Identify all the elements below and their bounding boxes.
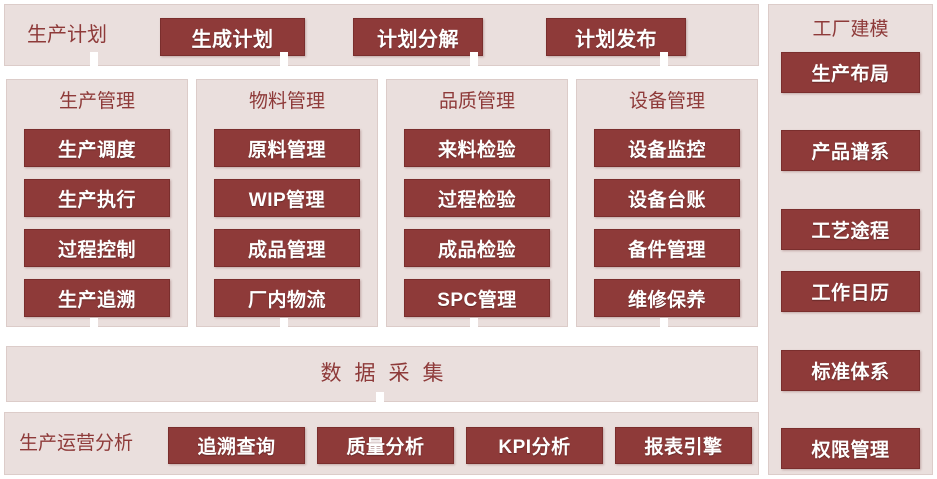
tile-spc-management[interactable]: SPC管理 — [404, 279, 550, 317]
material-management-panel: 物料管理 原料管理 WIP管理 成品管理 厂内物流 — [196, 79, 378, 327]
tile-in-plant-logistics[interactable]: 厂内物流 — [214, 279, 360, 317]
data-collection-panel: 数据采集 — [6, 346, 758, 402]
tile-raw-material-management[interactable]: 原料管理 — [214, 129, 360, 167]
equipment-management-label: 设备管理 — [577, 91, 757, 113]
quality-management-panel: 品质管理 来料检验 过程检验 成品检验 SPC管理 — [386, 79, 568, 327]
tile-wip-management[interactable]: WIP管理 — [214, 179, 360, 217]
tile-kpi-analysis[interactable]: KPI分析 — [466, 427, 603, 464]
tile-process-routing[interactable]: 工艺途程 — [781, 209, 920, 250]
tile-production-execution[interactable]: 生产执行 — [24, 179, 170, 217]
tile-report-engine[interactable]: 报表引擎 — [615, 427, 752, 464]
tile-maintenance[interactable]: 维修保养 — [594, 279, 740, 317]
tile-trace-query[interactable]: 追溯查询 — [168, 427, 305, 464]
quality-management-label: 品质管理 — [387, 91, 567, 113]
tile-production-scheduling[interactable]: 生产调度 — [24, 129, 170, 167]
tile-quality-analysis[interactable]: 质量分析 — [317, 427, 454, 464]
tile-incoming-inspection[interactable]: 来料检验 — [404, 129, 550, 167]
tile-product-genealogy[interactable]: 产品谱系 — [781, 130, 920, 171]
tile-equipment-monitoring[interactable]: 设备监控 — [594, 129, 740, 167]
data-collection-label: 数据采集 — [7, 361, 757, 387]
factory-modeling-label: 工厂建模 — [769, 19, 932, 41]
tile-process-control[interactable]: 过程控制 — [24, 229, 170, 267]
tile-generate-plan[interactable]: 生成计划 — [160, 18, 305, 56]
tile-in-process-inspection[interactable]: 过程检验 — [404, 179, 550, 217]
diagram-canvas: 生产计划 生成计划 计划分解 计划发布 生产管理 生产调度 生产执行 过程控制 … — [0, 0, 937, 479]
tile-work-calendar[interactable]: 工作日历 — [781, 271, 920, 312]
equipment-management-panel: 设备管理 设备监控 设备台账 备件管理 维修保养 — [576, 79, 758, 327]
production-management-label: 生产管理 — [7, 91, 187, 113]
production-plan-label: 生产计划 — [27, 23, 107, 47]
tile-plan-breakdown[interactable]: 计划分解 — [353, 18, 483, 56]
tile-spare-parts-management[interactable]: 备件管理 — [594, 229, 740, 267]
operations-analysis-label: 生产运营分析 — [19, 433, 133, 455]
tile-plan-release[interactable]: 计划发布 — [546, 18, 686, 56]
tile-permission-management[interactable]: 权限管理 — [781, 428, 920, 469]
factory-modeling-panel: 工厂建模 生产布局 产品谱系 工艺途程 工作日历 标准体系 权限管理 — [768, 4, 933, 475]
tile-production-traceability[interactable]: 生产追溯 — [24, 279, 170, 317]
tile-standards-system[interactable]: 标准体系 — [781, 350, 920, 391]
tile-equipment-ledger[interactable]: 设备台账 — [594, 179, 740, 217]
tile-production-layout[interactable]: 生产布局 — [781, 52, 920, 93]
operations-analysis-panel: 生产运营分析 追溯查询 质量分析 KPI分析 报表引擎 — [4, 412, 759, 475]
production-plan-panel: 生产计划 生成计划 计划分解 计划发布 — [4, 4, 759, 66]
material-management-label: 物料管理 — [197, 91, 377, 113]
production-management-panel: 生产管理 生产调度 生产执行 过程控制 生产追溯 — [6, 79, 188, 327]
tile-finished-goods-management[interactable]: 成品管理 — [214, 229, 360, 267]
tile-final-inspection[interactable]: 成品检验 — [404, 229, 550, 267]
